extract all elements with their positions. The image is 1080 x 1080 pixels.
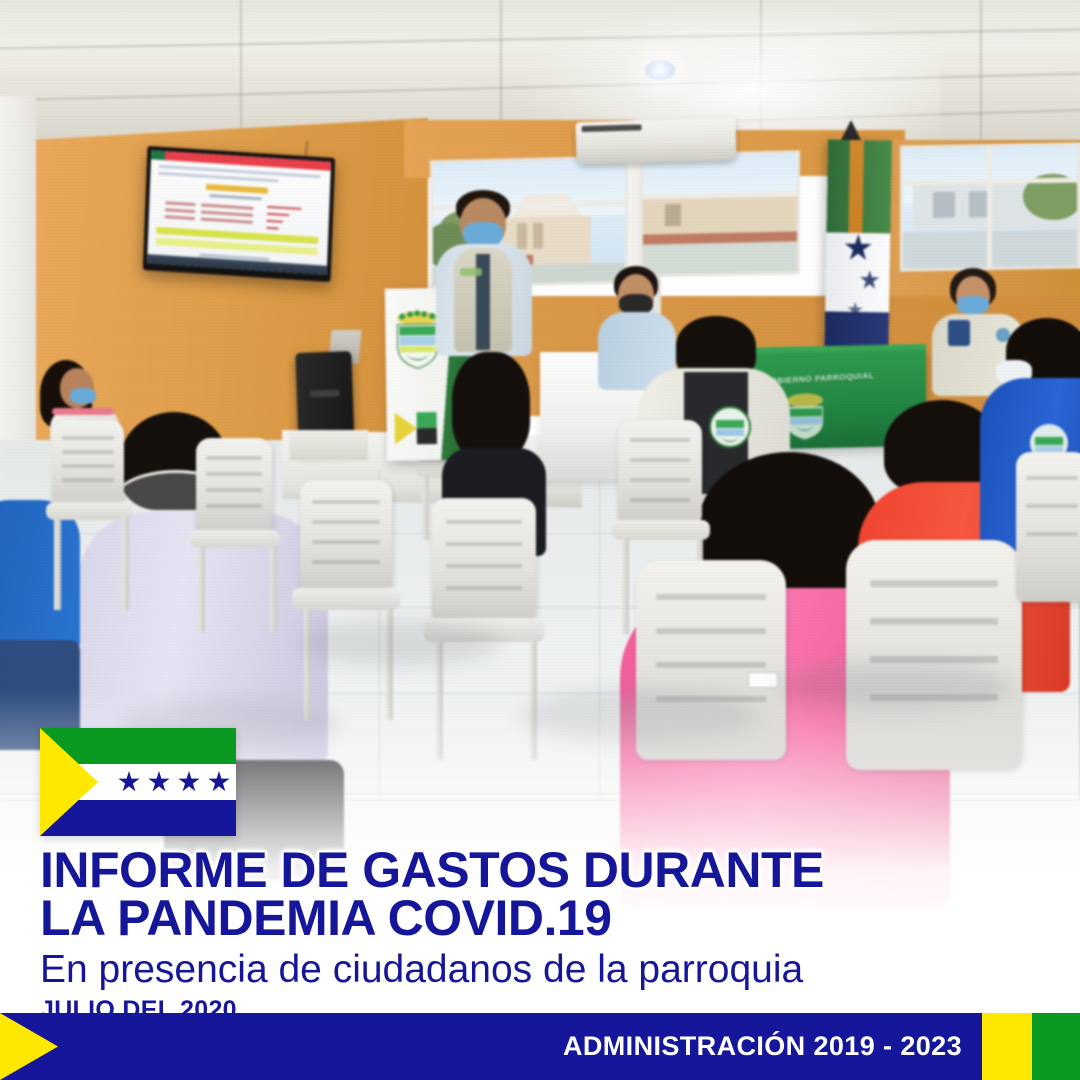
subtitle: En presencia de ciudadanos de la parroqu… bbox=[40, 948, 1040, 992]
caption-block: INFORME DE GASTOS DURANTE LA PANDEMIA CO… bbox=[40, 846, 1040, 1024]
flag-star-icon bbox=[208, 771, 230, 793]
flag-star-icon bbox=[118, 771, 140, 793]
poster-root: GOBIERNO PARROQUIAL bbox=[0, 0, 1080, 1080]
flag-star-icon bbox=[178, 771, 200, 793]
flag-stars bbox=[112, 764, 236, 800]
bottom-bar-green-block bbox=[1032, 1013, 1080, 1080]
administration-label: ADMINISTRACIÓN 2019 - 2023 bbox=[563, 1013, 962, 1080]
flag-star-icon bbox=[148, 771, 170, 793]
bottom-bar-yellow-block bbox=[982, 1013, 1032, 1080]
bottom-bar: ADMINISTRACIÓN 2019 - 2023 bbox=[0, 1013, 1080, 1080]
title-line-2: LA PANDEMIA COVID.19 bbox=[40, 894, 1040, 942]
provincial-flag-logo bbox=[40, 728, 236, 836]
title-line-1: INFORME DE GASTOS DURANTE bbox=[40, 846, 1040, 894]
